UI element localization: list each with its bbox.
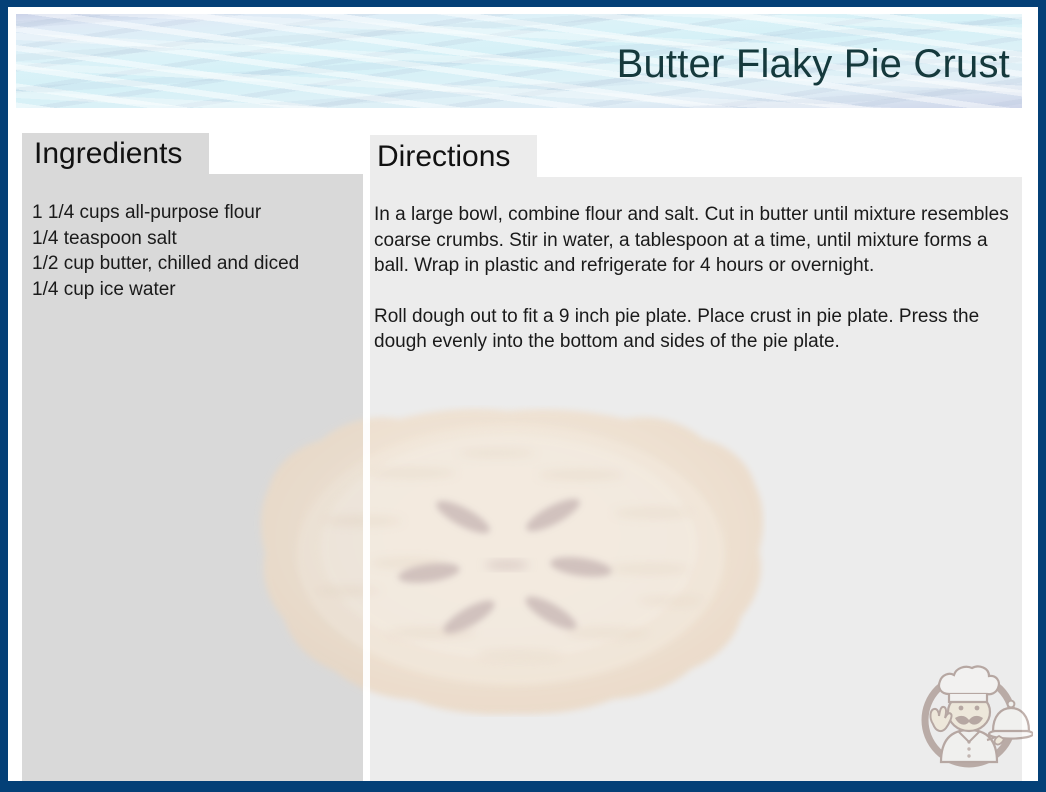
list-item: 1/4 teaspoon salt xyxy=(32,226,352,252)
directions-paragraph: Roll dough out to fit a 9 inch pie plate… xyxy=(374,304,1026,355)
list-item: 1/4 cup ice water xyxy=(32,277,352,303)
directions-tab-label: Directions xyxy=(377,140,510,174)
ingredients-list: 1 1/4 cups all-purpose flour 1/4 teaspoo… xyxy=(32,200,352,302)
list-item: 1 1/4 cups all-purpose flour xyxy=(32,200,352,226)
directions-tab: Directions xyxy=(370,135,537,178)
ingredients-tab-label: Ingredients xyxy=(34,137,182,171)
directions-text: In a large bowl, combine flour and salt.… xyxy=(374,202,1026,355)
directions-paragraph: In a large bowl, combine flour and salt.… xyxy=(374,202,1026,279)
list-item: 1/2 cup butter, chilled and diced xyxy=(32,251,352,277)
recipe-slide: Butter Flaky Pie Crust Ingredients 1 1/4… xyxy=(0,0,1046,792)
panel-divider xyxy=(363,174,370,788)
ingredients-tab: Ingredients xyxy=(22,133,209,175)
pie-crust-image xyxy=(251,405,767,717)
page-title: Butter Flaky Pie Crust xyxy=(617,41,1010,87)
chef-logo-icon xyxy=(911,654,1033,776)
